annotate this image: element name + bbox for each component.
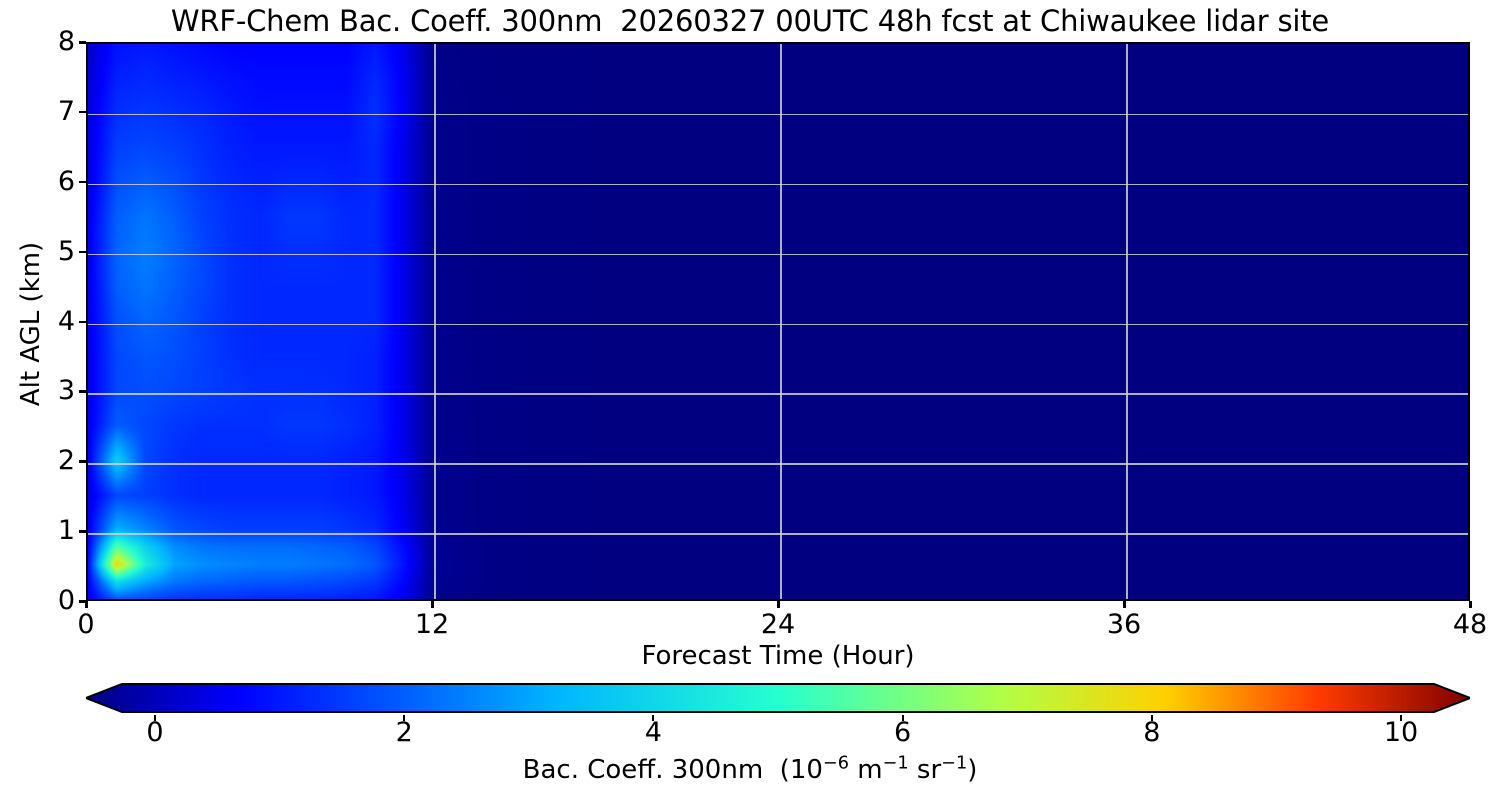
y-tick-mark (79, 111, 86, 114)
colorbar-tick-label: 6 (858, 718, 948, 748)
x-tick-mark (431, 601, 434, 608)
x-tick-mark (777, 601, 780, 608)
y-tick-label: 6 (15, 168, 75, 195)
x-tick-label: 12 (382, 610, 482, 640)
y-tick-label: 1 (15, 517, 75, 544)
x-tick-label: 24 (728, 610, 828, 640)
x-tick-mark (1123, 601, 1126, 608)
colorbar-label-exponent: −1 (883, 753, 909, 773)
y-tick-label: 8 (15, 28, 75, 55)
y-tick-mark (79, 460, 86, 463)
y-tick-mark (79, 321, 86, 324)
colorbar-label-exponent: −6 (823, 753, 849, 773)
colorbar-tick-label: 8 (1107, 718, 1197, 748)
figure-canvas: WRF-Chem Bac. Coeff. 300nm 20260327 00UT… (0, 0, 1500, 800)
colorbar-tick-label: 2 (359, 718, 449, 748)
colorbar-tick-label: 0 (110, 718, 200, 748)
colorbar-label-text: ) (967, 755, 977, 785)
colorbar-label-text: Bac. Coeff. 300nm (10 (523, 755, 823, 785)
y-tick-mark (79, 251, 86, 254)
y-tick-mark (79, 530, 86, 533)
colorbar-tick-label: 4 (608, 718, 698, 748)
y-tick-mark (79, 41, 86, 44)
x-tick-label: 48 (1420, 610, 1500, 640)
colorbar-gradient (86, 681, 1470, 715)
colorbar[interactable] (86, 681, 1470, 715)
y-axis-label: Alt AGL (km) (18, 194, 44, 454)
colorbar-label: Bac. Coeff. 300nm (10−6 m−1 sr−1) (0, 755, 1500, 785)
y-tick-mark (79, 390, 86, 393)
x-tick-label: 0 (36, 610, 136, 640)
colorbar-label-text: sr (909, 755, 942, 785)
colorbar-tick-label: 10 (1356, 718, 1446, 748)
x-tick-mark (1469, 601, 1472, 608)
colorbar-label-exponent: −1 (941, 753, 967, 773)
page-title: WRF-Chem Bac. Coeff. 300nm 20260327 00UT… (0, 4, 1500, 38)
x-axis-label: Forecast Time (Hour) (86, 641, 1470, 671)
colorbar-label-text: m (849, 755, 883, 785)
backscatter-field (88, 44, 1468, 599)
y-tick-label: 7 (15, 98, 75, 125)
x-tick-mark (85, 601, 88, 608)
heatmap-plot-area[interactable] (86, 42, 1470, 601)
x-tick-label: 36 (1074, 610, 1174, 640)
y-tick-mark (79, 181, 86, 184)
